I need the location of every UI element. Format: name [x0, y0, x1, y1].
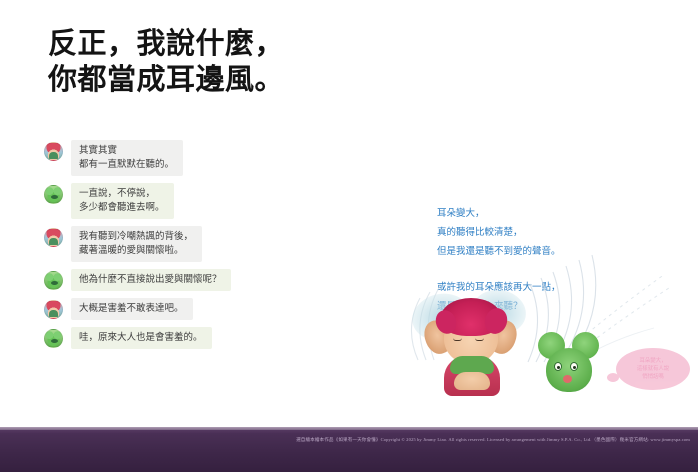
chat-message: 他為什麼不直接說出愛與關懷呢？ — [44, 269, 294, 291]
green-mouse-character — [538, 332, 600, 396]
mouse-mouth — [563, 375, 572, 383]
chat-bubble: 我有聽到冷嘲熱諷的背後， 藏著溫暖的愛與關懷啦。 — [71, 226, 202, 262]
child-hair — [441, 298, 501, 336]
chat-bubble: 一直說，不停說， 多少都會聽進去啊。 — [71, 183, 174, 219]
boy-avatar — [44, 300, 63, 319]
chat-message: 大概是害羞不敢表達吧。 — [44, 298, 294, 320]
chat-message: 一直說，不停說， 多少都會聽進去啊。 — [44, 183, 294, 219]
page-root: 反正，我說什麼， 你都當成耳邊風。 其實其實 都有一直默默在聽的。 一直說，不停… — [0, 0, 698, 472]
fairy-child-character — [430, 286, 538, 396]
chat-bubble: 哇，原來大人也是會害羞的。 — [71, 327, 212, 349]
chat-message: 其實其實 都有一直默默在聽的。 — [44, 140, 294, 176]
title-line-2: 你都當成耳邊風。 — [48, 62, 508, 98]
mouse-avatar — [44, 329, 63, 348]
boy-avatar — [44, 142, 63, 161]
child-hands — [454, 372, 490, 390]
copyright-credit: 選自繪本繪本作品《如果有一天你會懂》Copyright © 2025 by Ji… — [296, 436, 690, 443]
page-title: 反正，我說什麼， 你都當成耳邊風。 — [48, 26, 508, 98]
mouse-head — [546, 348, 592, 392]
boy-avatar — [44, 228, 63, 247]
pink-bubble-text: 耳朵變大， 這樣就有人說 悄悄話嗎 — [637, 357, 669, 381]
chat-conversation: 其實其實 都有一直默默在聽的。 一直說，不停說， 多少都會聽進去啊。 我有聽到冷… — [44, 140, 294, 356]
mouse-eye-right — [570, 362, 578, 371]
ground-strip: 選自繪本繪本作品《如果有一天你會懂》Copyright © 2025 by Ji… — [0, 430, 698, 472]
illustration — [410, 250, 698, 425]
mouse-eye-left — [554, 362, 562, 371]
chat-bubble: 其實其實 都有一直默默在聽的。 — [71, 140, 183, 176]
chat-bubble: 他為什麼不直接說出愛與關懷呢？ — [71, 269, 231, 291]
chat-bubble: 大概是害羞不敢表達吧。 — [71, 298, 193, 320]
chat-message: 我有聽到冷嘲熱諷的背後， 藏著溫暖的愛與關懷啦。 — [44, 226, 294, 262]
chat-message: 哇，原來大人也是會害羞的。 — [44, 327, 294, 349]
mouse-avatar — [44, 185, 63, 204]
mouse-avatar — [44, 271, 63, 290]
pink-speech-bubble: 耳朵變大， 這樣就有人說 悄悄話嗎 — [616, 348, 690, 390]
title-line-1: 反正，我說什麼， — [48, 26, 508, 62]
